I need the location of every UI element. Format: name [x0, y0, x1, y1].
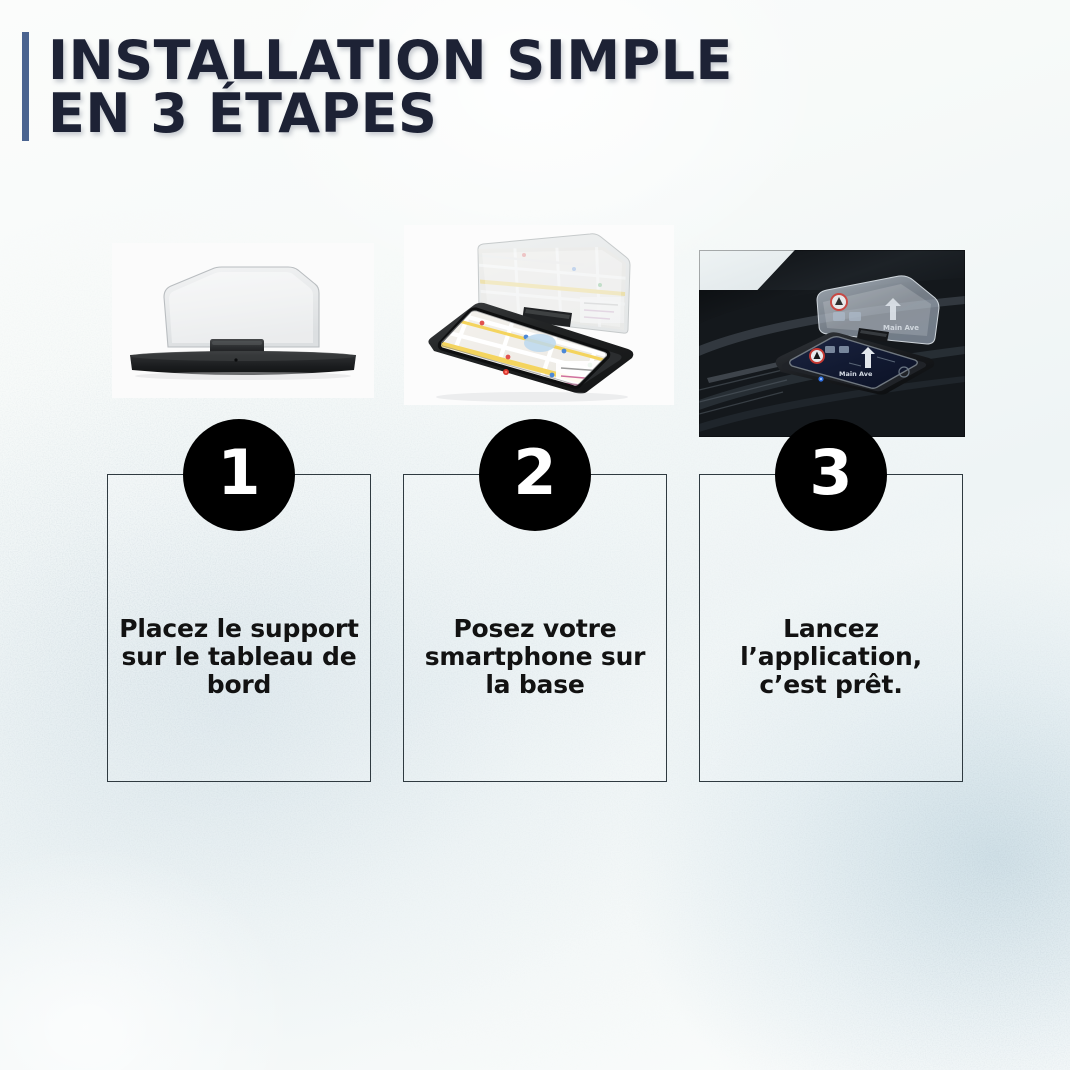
step-number-badge-2: 2	[479, 419, 591, 531]
hud-installed-on-dashboard-image: Main Ave	[699, 250, 965, 437]
step-number-badge-1: 1	[183, 419, 295, 531]
step-number-badge-3: 3	[775, 419, 887, 531]
page-title-line-1: INSTALLATION SIMPLE	[48, 34, 733, 87]
hud-holder-front-view-image	[112, 243, 374, 398]
svg-text:Main Ave: Main Ave	[839, 370, 873, 378]
installation-steps-infographic: INSTALLATION SIMPLE EN 3 ÉTAPES	[0, 0, 1070, 1070]
step-card-row: 1 Placez le support sur le tableau de bo…	[0, 0, 1070, 1070]
step-description-1: Placez le support sur le tableau de bord	[114, 615, 364, 699]
title-accent-bar	[22, 32, 29, 141]
step-card-3[interactable]: 3 Lancez l’application, c’est prêt.	[699, 474, 963, 782]
step-card-2[interactable]: 2 Posez votre smartphone sur la base	[403, 474, 667, 782]
page-title: INSTALLATION SIMPLE EN 3 ÉTAPES	[48, 32, 733, 141]
step-card-1[interactable]: 1 Placez le support sur le tableau de bo…	[107, 474, 371, 782]
step-description-3: Lancez l’application, c’est prêt.	[706, 615, 956, 699]
svg-text:Main Ave: Main Ave	[883, 324, 919, 332]
step-description-2: Posez votre smartphone sur la base	[410, 615, 660, 699]
page-title-line-2: EN 3 ÉTAPES	[48, 87, 733, 140]
hud-with-smartphone-map-image	[404, 225, 674, 405]
page-header: INSTALLATION SIMPLE EN 3 ÉTAPES	[22, 32, 733, 141]
